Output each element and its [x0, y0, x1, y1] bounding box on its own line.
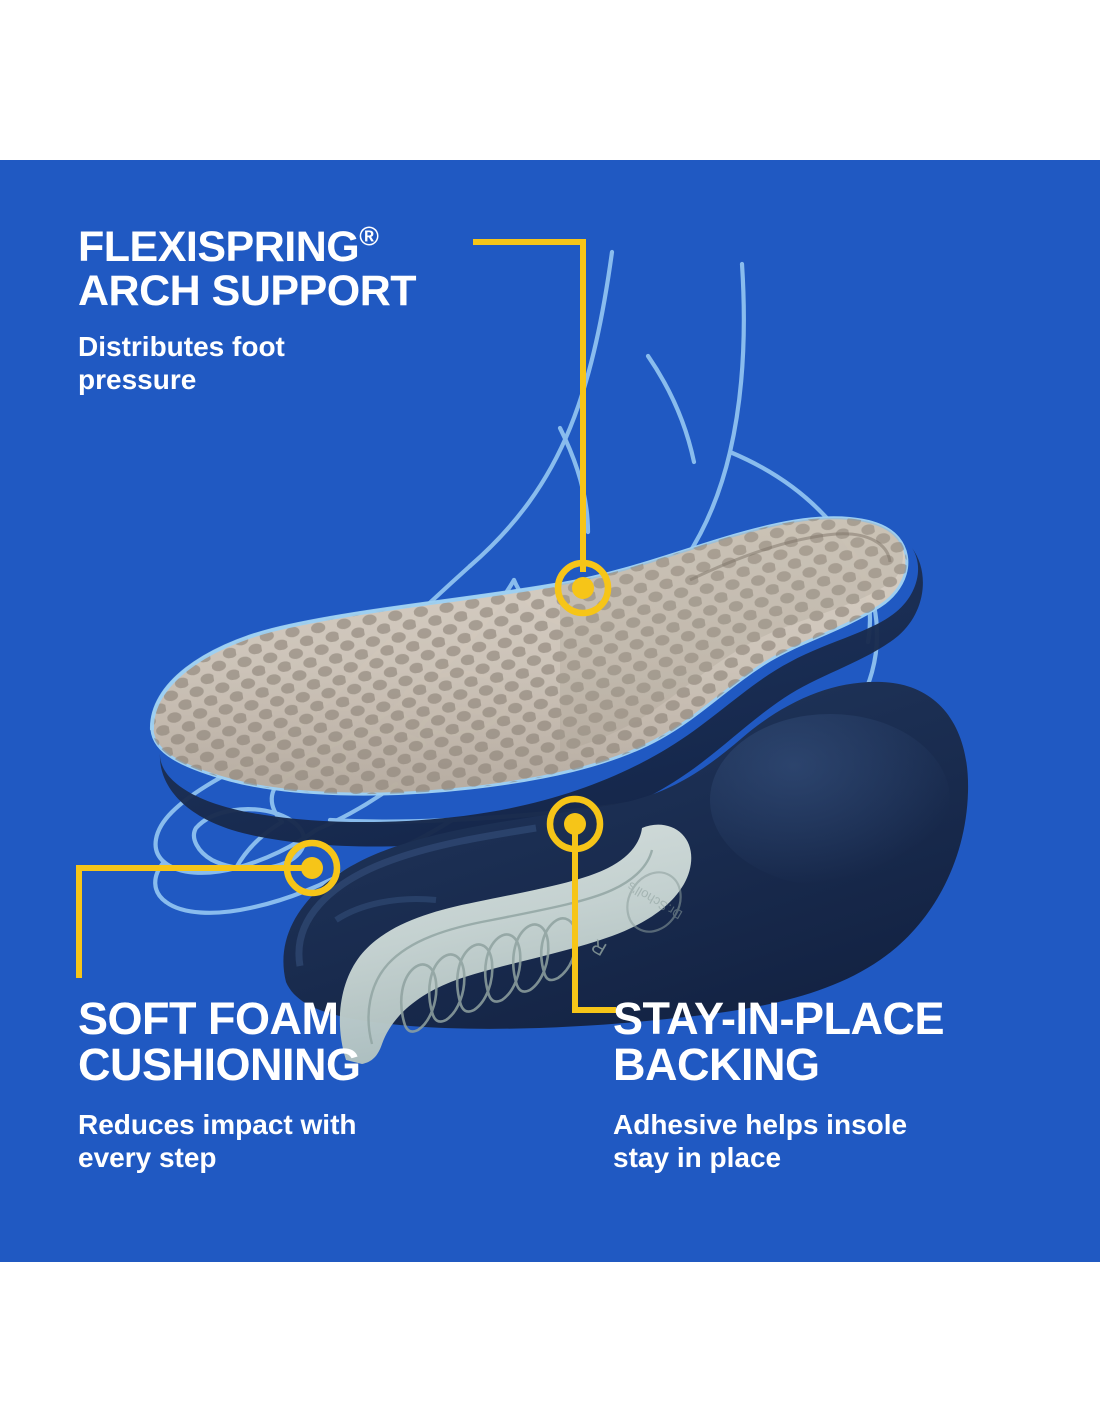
registered-mark-icon: ®	[359, 222, 378, 252]
leader-soft-foam	[79, 868, 312, 978]
callout-stay-in-place-subtitle: Adhesive helps insole stay in place	[613, 1108, 944, 1174]
callout-arch-support-title: FLEXISPRING®ARCH SUPPORT	[78, 226, 416, 314]
callout-soft-foam-subtitle: Reduces impact with every step	[78, 1108, 361, 1174]
infographic-canvas: Dr.Scholl's	[0, 0, 1100, 1422]
callout-soft-foam-title: SOFT FOAM CUSHIONING	[78, 996, 361, 1088]
callout-soft-foam: SOFT FOAM CUSHIONING Reduces impact with…	[78, 996, 361, 1174]
callout-arch-support-title-line2: ARCH SUPPORT	[78, 267, 416, 315]
leader-arch-support	[473, 242, 583, 572]
callout-arch-support-title-line1: FLEXISPRING	[78, 223, 359, 271]
callout-arch-support: FLEXISPRING®ARCH SUPPORT Distributes foo…	[78, 226, 416, 396]
callout-arch-support-subtitle: Distributes foot pressure	[78, 330, 416, 396]
callout-stay-in-place: STAY-IN-PLACE BACKING Adhesive helps ins…	[613, 996, 944, 1174]
blue-panel: Dr.Scholl's	[0, 160, 1100, 1262]
callout-stay-in-place-title: STAY-IN-PLACE BACKING	[613, 996, 944, 1088]
